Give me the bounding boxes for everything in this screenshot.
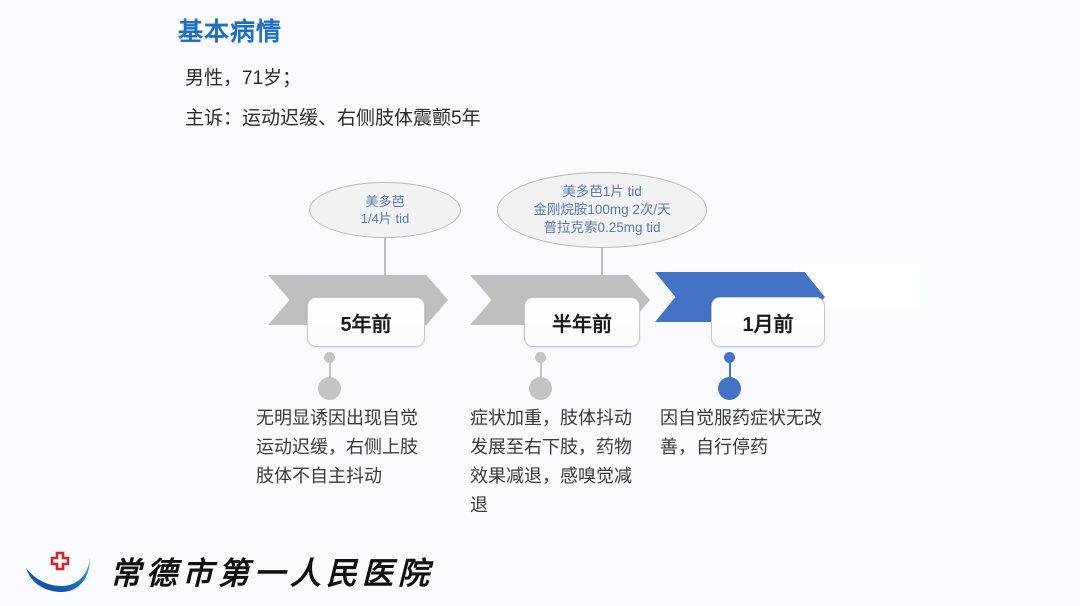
period-label-5years: 5年前 <box>307 297 425 347</box>
medication-line: 1/4片 tid <box>361 210 409 227</box>
medication-bubble-halfyear: 美多芭1片 tid 金刚烷胺100mg 2次/天 普拉克索0.25mg tid <box>497 172 707 248</box>
medication-bubble-5years: 美多芭 1/4片 tid <box>309 182 461 238</box>
medication-line: 美多芭 <box>365 193 404 210</box>
slide-canvas: 基本病情 男性，71岁； 主诉：运动迟缓、右侧肢体震颤5年 美多芭 1/4片 t… <box>0 0 1080 606</box>
hospital-emblem-icon <box>22 546 94 596</box>
medication-line: 普拉克索0.25mg tid <box>543 219 660 237</box>
connector-dot-large <box>318 377 341 400</box>
medication-line: 金刚烷胺100mg 2次/天 <box>533 201 670 219</box>
footer-logo: 常德市第一人民医院 <box>22 546 398 598</box>
connector-dot-large <box>718 377 741 400</box>
medication-line: 美多芭1片 tid <box>562 183 642 201</box>
bubble-stem-halfyear <box>601 248 603 278</box>
connector-dot-large <box>529 377 552 400</box>
patient-gender-age: 男性，71岁； <box>185 63 301 90</box>
timeline-description-halfyear: 症状加重，肢体抖动发展至右下肢，药物效果减退，感嗅觉减退 <box>470 404 638 521</box>
period-label-halfyear: 半年前 <box>524 297 640 347</box>
bubble-stem-5years <box>384 238 386 278</box>
patient-chief-complaint: 主诉：运动迟缓、右侧肢体震颤5年 <box>185 103 481 130</box>
timeline-description-1month: 因自觉服药症状无改善，自行停药 <box>660 404 830 462</box>
timeline-description-5years: 无明显诱因出现自觉运动迟缓，右侧上肢肢体不自主抖动 <box>256 404 434 491</box>
page-title: 基本病情 <box>178 12 282 48</box>
hospital-name: 常德市第一人民医院 <box>110 548 434 593</box>
period-label-1month: 1月前 <box>711 297 825 347</box>
